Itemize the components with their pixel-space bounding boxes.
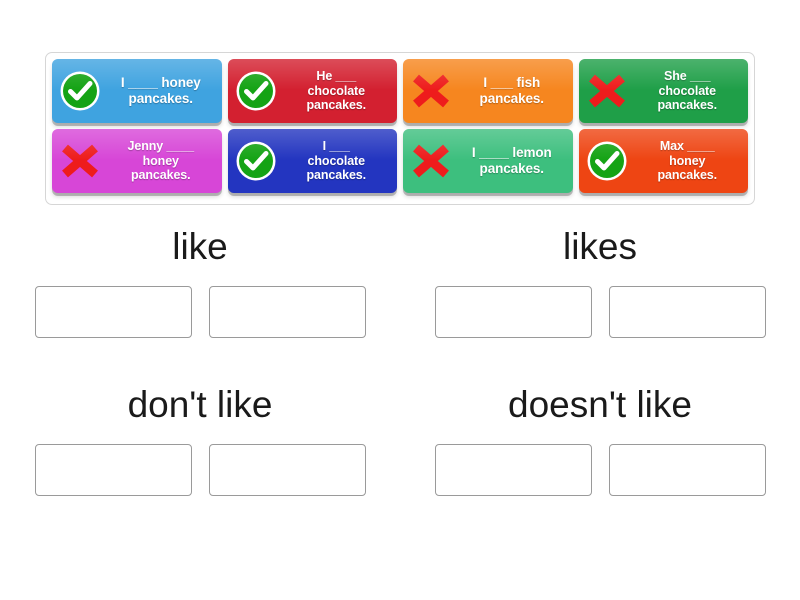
category-groups: like likes don't like [0, 228, 800, 496]
group-title: likes [563, 228, 637, 265]
cross-icon [405, 129, 457, 193]
draggable-tile[interactable]: She ___ chocolate pancakes. [579, 59, 749, 123]
dropzone[interactable] [35, 444, 192, 496]
tile-row: I ____ honey pancakes. He ___ chocolate … [52, 59, 748, 127]
group-doesnt-like: doesn't like [400, 386, 800, 496]
dropzone-list [35, 444, 366, 496]
draggable-tile[interactable]: I ____ lemon pancakes. [403, 129, 573, 193]
draggable-tile[interactable]: I ___ chocolate pancakes. [228, 129, 398, 193]
tile-row: Jenny ____ honey pancakes. I ___ chocola… [52, 129, 748, 197]
cross-icon [405, 59, 457, 123]
tile-label: I ____ honey pancakes. [106, 75, 222, 107]
dropzone[interactable] [435, 444, 592, 496]
cross-icon [581, 59, 633, 123]
tile-label: I ___ fish pancakes. [457, 75, 573, 107]
tile-label: He ___ chocolate pancakes. [282, 69, 398, 113]
tile-label: I ___ chocolate pancakes. [282, 139, 398, 183]
dropzone[interactable] [209, 444, 366, 496]
dropzone[interactable] [35, 286, 192, 338]
dropzone[interactable] [609, 444, 766, 496]
dropzone[interactable] [609, 286, 766, 338]
draggable-tile[interactable]: He ___ chocolate pancakes. [228, 59, 398, 123]
tile-label: Max ____ honey pancakes. [633, 139, 749, 183]
group-row: like likes [0, 228, 800, 338]
tile-label: She ___ chocolate pancakes. [633, 69, 749, 113]
group-title: doesn't like [508, 386, 692, 423]
dropzone-list [35, 286, 366, 338]
dropzone-list [435, 286, 766, 338]
dropzone[interactable] [435, 286, 592, 338]
check-circle-icon [581, 129, 633, 193]
draggable-tile[interactable]: Max ____ honey pancakes. [579, 129, 749, 193]
check-circle-icon [230, 129, 282, 193]
group-dont-like: don't like [0, 386, 400, 496]
draggable-tile[interactable]: I ____ honey pancakes. [52, 59, 222, 123]
check-circle-icon [54, 59, 106, 123]
activity-stage: I ____ honey pancakes. He ___ chocolate … [0, 0, 800, 600]
group-title: like [172, 228, 228, 265]
group-like: like [0, 228, 400, 338]
draggable-tile[interactable]: I ___ fish pancakes. [403, 59, 573, 123]
draggable-tile[interactable]: Jenny ____ honey pancakes. [52, 129, 222, 193]
tile-label: Jenny ____ honey pancakes. [106, 139, 222, 183]
dropzone-list [435, 444, 766, 496]
tile-tray: I ____ honey pancakes. He ___ chocolate … [45, 52, 755, 205]
group-row: don't like doesn't like [0, 386, 800, 496]
cross-icon [54, 129, 106, 193]
tile-label: I ____ lemon pancakes. [457, 145, 573, 177]
dropzone[interactable] [209, 286, 366, 338]
group-likes: likes [400, 228, 800, 338]
group-title: don't like [128, 386, 273, 423]
check-circle-icon [230, 59, 282, 123]
